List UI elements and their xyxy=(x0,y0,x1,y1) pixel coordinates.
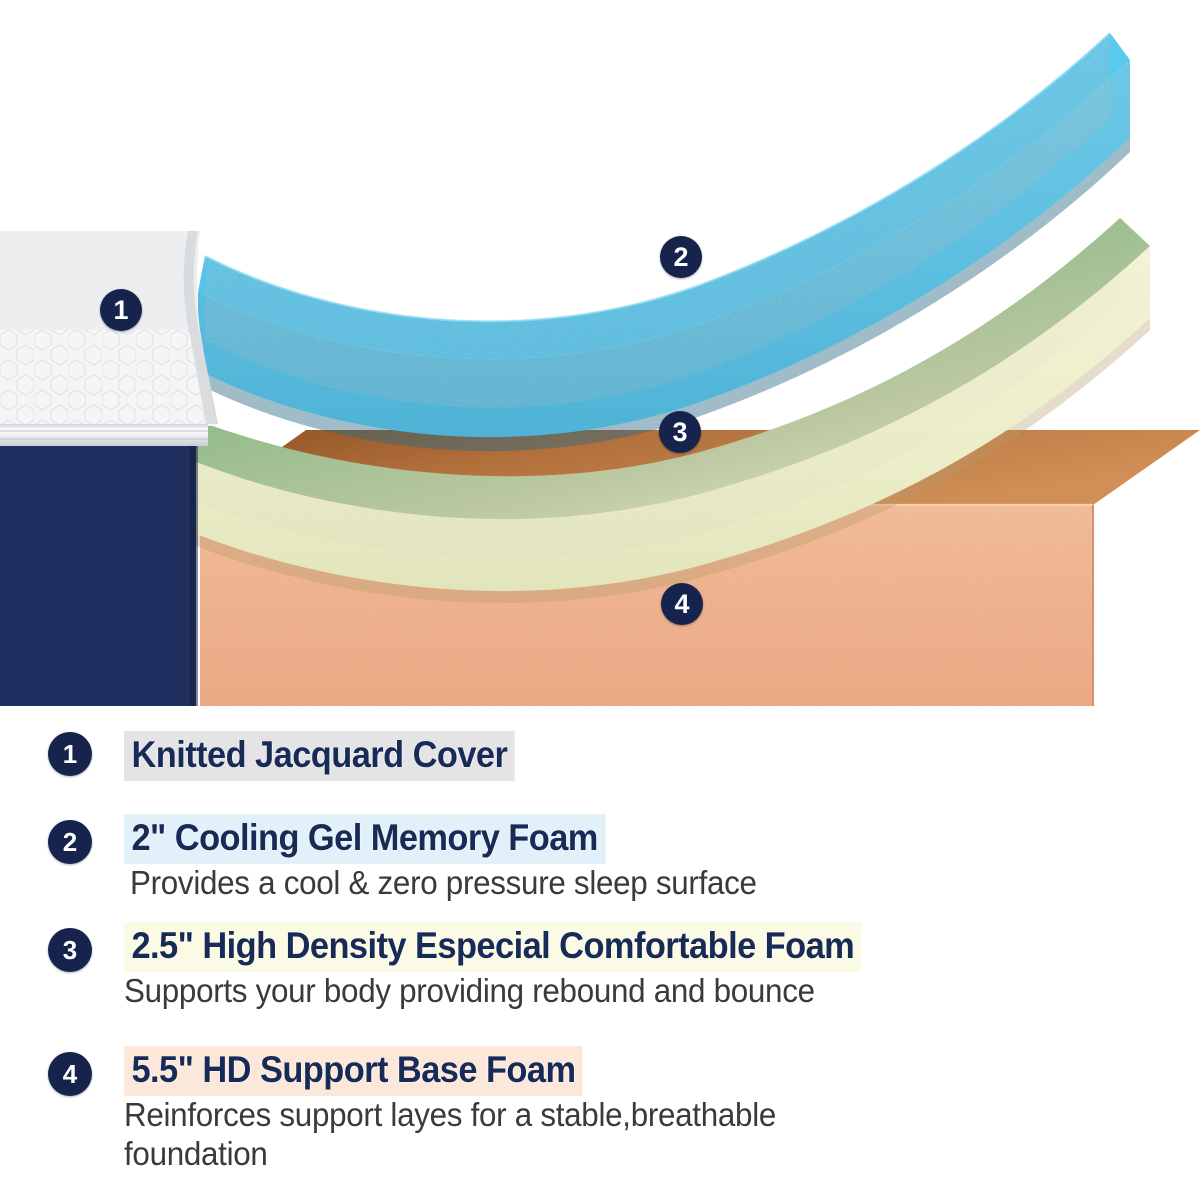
diagram-badge-1: 1 xyxy=(100,289,142,331)
legend-badge-2: 2 xyxy=(48,820,92,864)
layer-legend: 1 Knitted Jacquard Cover 2 2" Cooling Ge… xyxy=(0,716,1200,1200)
legend-badge-4: 4 xyxy=(48,1052,92,1096)
mattress-layers-svg xyxy=(0,0,1200,716)
legend-title-2: 2" Cooling Gel Memory Foam xyxy=(124,814,605,864)
diagram-badge-2: 2 xyxy=(660,236,702,278)
mattress-exploded-diagram: 1 2 3 4 xyxy=(0,0,1200,716)
diagram-badge-3: 3 xyxy=(659,411,701,453)
mattress-layer-infographic: 1 2 3 4 1 Knitted Jacquard Cover 2 2" Co… xyxy=(0,0,1200,1200)
legend-title-4: 5.5" HD Support Base Foam xyxy=(124,1046,583,1096)
legend-badge-3: 3 xyxy=(48,928,92,972)
cover-zipper-strip xyxy=(0,424,208,446)
legend-title-1: Knitted Jacquard Cover xyxy=(124,731,515,781)
legend-badge-1: 1 xyxy=(48,732,92,776)
diagram-badge-4: 4 xyxy=(661,583,703,625)
legend-title-3: 2.5" High Density Especial Comfortable F… xyxy=(124,922,862,972)
legend-desc-2: Provides a cool & zero pressure sleep su… xyxy=(130,864,757,903)
legend-desc-3: Supports your body providing rebound and… xyxy=(124,972,815,1011)
legend-desc-4: Reinforces support layes for a stable,br… xyxy=(124,1096,776,1174)
